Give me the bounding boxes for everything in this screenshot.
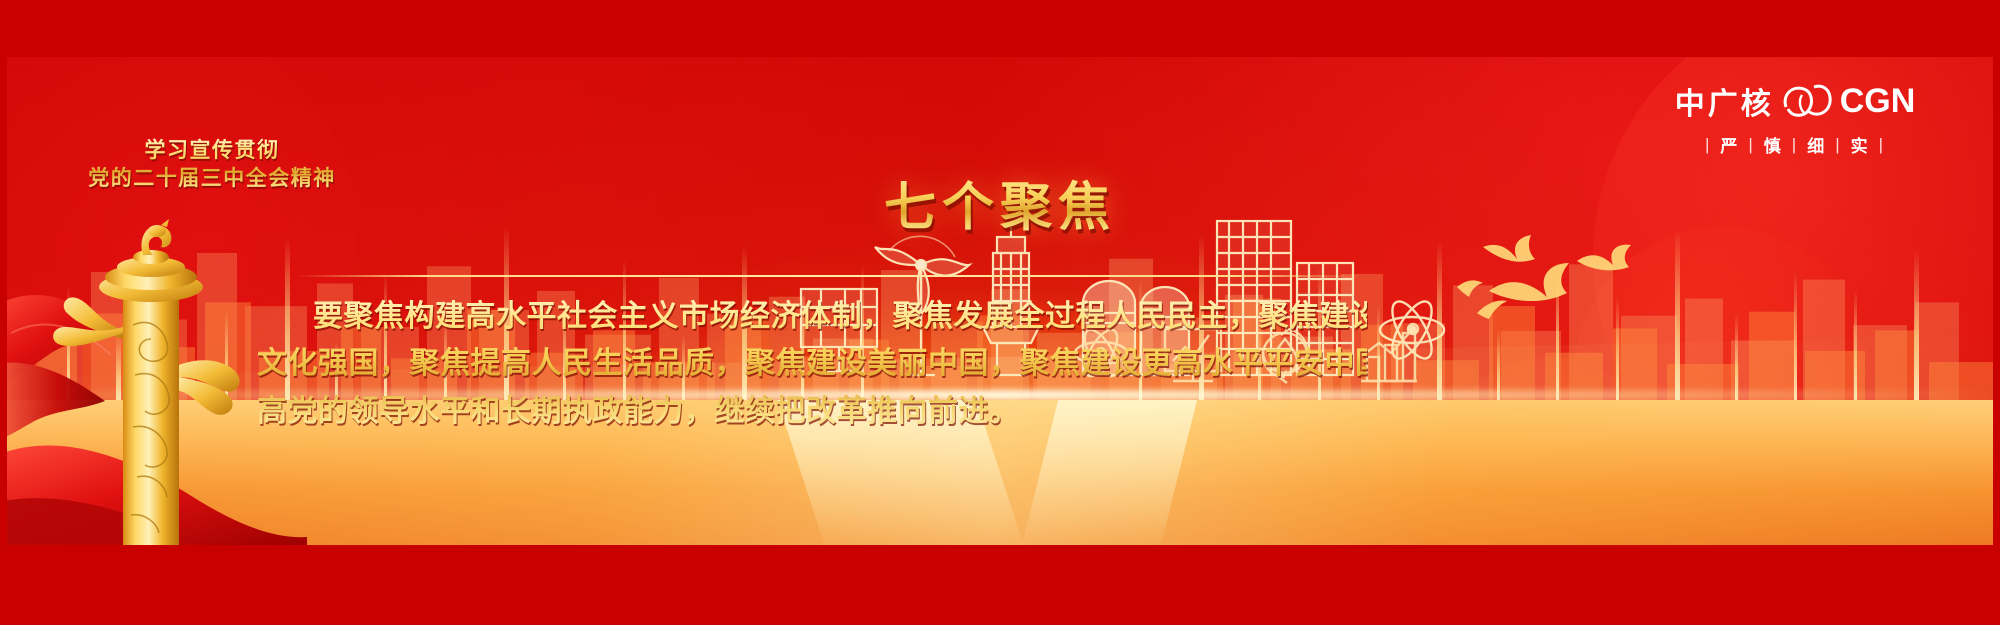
flying-doves (1437, 235, 1667, 355)
dove-icon (1577, 245, 1631, 271)
logo-chinese-name: 中广核 (1675, 79, 1774, 123)
page-title: 七个聚焦 (7, 165, 1993, 240)
dove-icon (1457, 280, 1483, 297)
tagline-separator-3: | (1835, 135, 1841, 155)
body-line-1: 要聚焦构建高水平社会主义市场经济体制，聚焦发展全过程人民民主，聚焦建设社会主义 (257, 293, 1367, 340)
logo-wordmark: 中广核 CGN (1645, 79, 1945, 123)
tagline-separator-0: | (1705, 135, 1711, 155)
tagline-separator-2: | (1792, 135, 1798, 155)
tagline-separator-1: | (1748, 135, 1754, 155)
logo-tagline: | 严 | 慎 | 细 | 实 | (1645, 132, 1945, 157)
banner-artwork-panel: 学习宣传贯彻 党的二十届三中全会精神 七个聚焦 要聚焦构建高水平社会主义市场经济… (7, 57, 1993, 545)
body-line-2: 文化强国，聚焦提高人民生活品质，聚焦建设美丽中国，聚焦建设更高水平平安中国，聚焦… (257, 340, 1367, 387)
tagline-char-1: 严 (1720, 132, 1739, 157)
body-paragraph: 要聚焦构建高水平社会主义市场经济体制，聚焦发展全过程人民民主，聚焦建设社会主义 … (257, 293, 1367, 435)
tagline-char-4: 实 (1851, 132, 1870, 157)
tagline-char-2: 慎 (1764, 132, 1783, 157)
body-line-3: 高党的领导水平和长期执政能力，继续把改革推向前进。 (257, 388, 1367, 435)
cgn-swirl-icon (1778, 81, 1836, 121)
gold-divider (297, 275, 1362, 277)
dove-icon (1489, 263, 1569, 301)
huabiao-column-icon (37, 215, 267, 545)
banner-root: 学习宣传贯彻 党的二十届三中全会精神 七个聚焦 要聚焦构建高水平社会主义市场经济… (0, 0, 2000, 625)
tagline-separator-4: | (1879, 135, 1885, 155)
tagline-char-3: 细 (1807, 132, 1826, 157)
logo-english-name: CGN (1840, 82, 1916, 121)
cgn-logo: 中广核 CGN | 严 | 慎 | 细 | 实 | (1645, 79, 1945, 157)
slogan-line-1: 学习宣传贯彻 (67, 137, 357, 165)
